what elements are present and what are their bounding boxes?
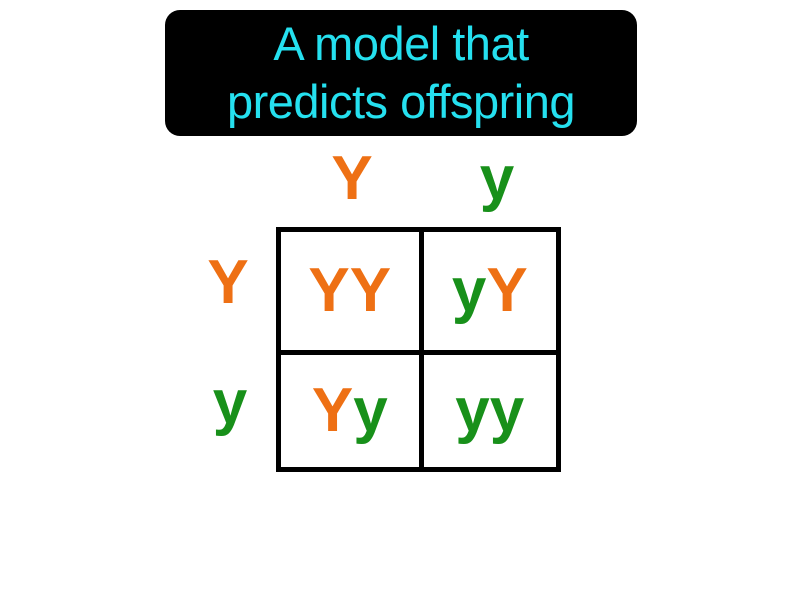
- top-allele-label-1: y: [467, 148, 527, 210]
- punnett-square-grid: YY yY Yy yy: [276, 227, 561, 472]
- allele-glyph: Y: [312, 380, 353, 442]
- punnett-cell-1-0: Yy: [281, 350, 419, 468]
- title-line-2: predicts offspring: [227, 73, 575, 131]
- left-allele-label-0: Y: [198, 252, 258, 314]
- definition-card: A model that predicts offspring Y y Y y …: [0, 0, 800, 600]
- allele-glyph: Y: [350, 260, 391, 322]
- allele-glyph: y: [455, 380, 489, 442]
- punnett-cell-1-1: yy: [419, 350, 557, 468]
- top-allele-label-0: Y: [322, 148, 382, 210]
- left-allele-label-1: y: [200, 372, 260, 434]
- punnett-cell-0-1: yY: [419, 232, 557, 350]
- allele-glyph: y: [353, 380, 387, 442]
- allele-glyph: y: [452, 260, 486, 322]
- allele-glyph: Y: [308, 260, 349, 322]
- title-banner: A model that predicts offspring: [165, 10, 637, 136]
- title-line-1: A model that: [273, 15, 528, 73]
- punnett-cell-0-0: YY: [281, 232, 419, 350]
- allele-glyph: y: [490, 380, 524, 442]
- allele-glyph: Y: [486, 260, 527, 322]
